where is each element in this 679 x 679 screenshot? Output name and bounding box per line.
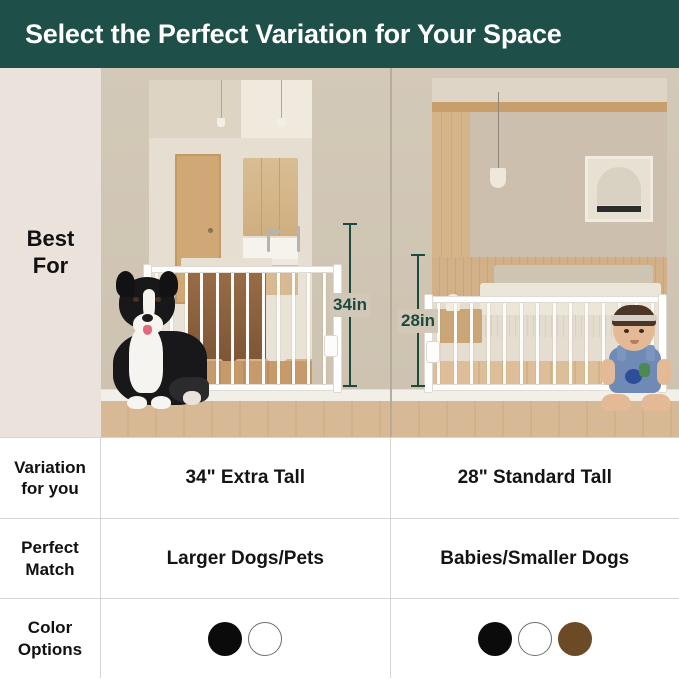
dog-eye xyxy=(155,297,161,302)
toddler-baby xyxy=(603,307,669,411)
spec-value-left: Larger Dogs/Pets xyxy=(167,548,324,570)
dog-ear xyxy=(159,271,178,297)
dog-nose xyxy=(142,314,153,322)
spec-label-perfect-match: Perfect Match xyxy=(0,519,101,598)
cabinet-seam xyxy=(261,158,262,236)
baby-leg xyxy=(641,394,671,411)
art-base xyxy=(597,206,641,212)
spec-label-text: Variation for you xyxy=(14,457,86,500)
toy-block xyxy=(639,363,650,377)
baby-leg xyxy=(601,394,631,411)
dog-front-paw xyxy=(127,396,147,409)
measure-cap-bottom xyxy=(343,385,357,387)
baby-eye xyxy=(639,329,644,333)
ceiling xyxy=(432,78,667,102)
gate-bar xyxy=(216,273,219,384)
header-banner: Select the Perfect Variation for Your Sp… xyxy=(0,0,679,68)
gate-bar xyxy=(292,273,295,384)
crown-molding xyxy=(432,102,667,112)
swatch-group-left xyxy=(208,622,282,656)
measurement-label: 28in xyxy=(398,309,438,333)
gate-top-rail xyxy=(147,266,338,273)
pendant-light xyxy=(217,118,225,127)
spec-label-color-options: Color Options xyxy=(0,599,101,678)
pendant-light xyxy=(277,118,285,127)
hero-comparison-row: Best For xyxy=(0,68,679,437)
swatch-group-right xyxy=(478,622,592,656)
spec-cell-right xyxy=(390,599,679,678)
gate-bar xyxy=(503,303,506,384)
gate-bar xyxy=(569,303,572,384)
color-swatch-white[interactable] xyxy=(518,622,552,656)
pendant-cord xyxy=(221,80,222,120)
color-swatch-brown[interactable] xyxy=(558,622,592,656)
measure-cap-bottom xyxy=(411,385,425,387)
gate-top-rail xyxy=(428,296,663,303)
gate-bar xyxy=(487,303,490,384)
gate-bar xyxy=(246,273,249,384)
spec-label-text: Perfect Match xyxy=(21,537,79,580)
gate-bar xyxy=(231,273,234,384)
row-label-best-for: Best For xyxy=(0,68,101,437)
pendant-light xyxy=(490,168,506,188)
spec-row-color-options: Color Options xyxy=(0,598,679,678)
spec-cell-left: Larger Dogs/Pets xyxy=(101,519,390,598)
dog-ear xyxy=(116,271,135,297)
measurement-28in: 28in xyxy=(398,254,438,387)
baby-arm xyxy=(657,359,671,385)
spec-cell-left: 34" Extra Tall xyxy=(101,438,390,518)
gate-bar xyxy=(520,303,523,384)
dog-eye xyxy=(133,297,139,302)
measurement-label: 34in xyxy=(330,293,370,317)
scene-bedroom-with-baby: 28in xyxy=(392,68,679,437)
pendant-cord xyxy=(498,92,499,170)
spec-value-left: 34" Extra Tall xyxy=(185,467,305,489)
headboard xyxy=(494,265,653,285)
faucet-tall xyxy=(297,226,300,252)
dog-tongue xyxy=(143,325,152,335)
upper-cabinets xyxy=(243,158,298,236)
color-swatch-black[interactable] xyxy=(478,622,512,656)
baby-arm xyxy=(601,359,615,385)
variation-comparison-infographic: Select the Perfect Variation for Your Sp… xyxy=(0,0,679,679)
gate-bar xyxy=(470,303,473,384)
dog-chest xyxy=(129,327,163,393)
faucet-spout xyxy=(267,230,281,233)
baby-headband xyxy=(611,315,657,321)
scene-kitchen-with-dog: 34in xyxy=(101,68,390,437)
gate-bar xyxy=(323,273,326,384)
cabinet-seam xyxy=(279,158,280,236)
gate-bar xyxy=(585,303,588,384)
measure-cap-top xyxy=(411,254,425,256)
spec-value-right: 28" Standard Tall xyxy=(458,467,612,489)
wood-wall-panel xyxy=(432,112,470,263)
faucet xyxy=(267,230,270,252)
border-collie-dog xyxy=(109,277,213,409)
gate-bar xyxy=(536,303,539,384)
overall-strap xyxy=(646,345,655,361)
baby-eye xyxy=(624,329,629,333)
spec-row-variation: Variation for you 34" Extra Tall 28" Sta… xyxy=(0,437,679,518)
measurement-34in: 34in xyxy=(330,223,370,387)
spec-label-text: Color Options xyxy=(18,617,82,660)
measure-cap-top xyxy=(343,223,357,225)
row-label-text: Best For xyxy=(27,226,75,280)
pendant-cord xyxy=(281,80,282,120)
gate-bar xyxy=(262,273,265,384)
gate-bar xyxy=(553,303,556,384)
spec-label-variation: Variation for you xyxy=(0,438,101,518)
art-arch xyxy=(597,167,641,205)
spec-cell-right: 28" Standard Tall xyxy=(390,438,679,518)
framed-wall-art xyxy=(585,156,653,222)
color-swatch-white[interactable] xyxy=(248,622,282,656)
page-title: Select the Perfect Variation for Your Sp… xyxy=(25,19,562,50)
door-knob xyxy=(208,228,213,233)
dog-front-paw xyxy=(151,396,171,409)
gate-bar xyxy=(277,273,280,384)
spec-value-right: Babies/Smaller Dogs xyxy=(440,548,629,570)
gate-bar xyxy=(307,273,310,384)
spec-row-perfect-match: Perfect Match Larger Dogs/Pets Babies/Sm… xyxy=(0,518,679,598)
color-swatch-black[interactable] xyxy=(208,622,242,656)
dog-hind-paw xyxy=(183,391,201,405)
gate-bar xyxy=(454,303,457,384)
spec-cell-left xyxy=(101,599,390,678)
spec-cell-right: Babies/Smaller Dogs xyxy=(390,519,679,598)
